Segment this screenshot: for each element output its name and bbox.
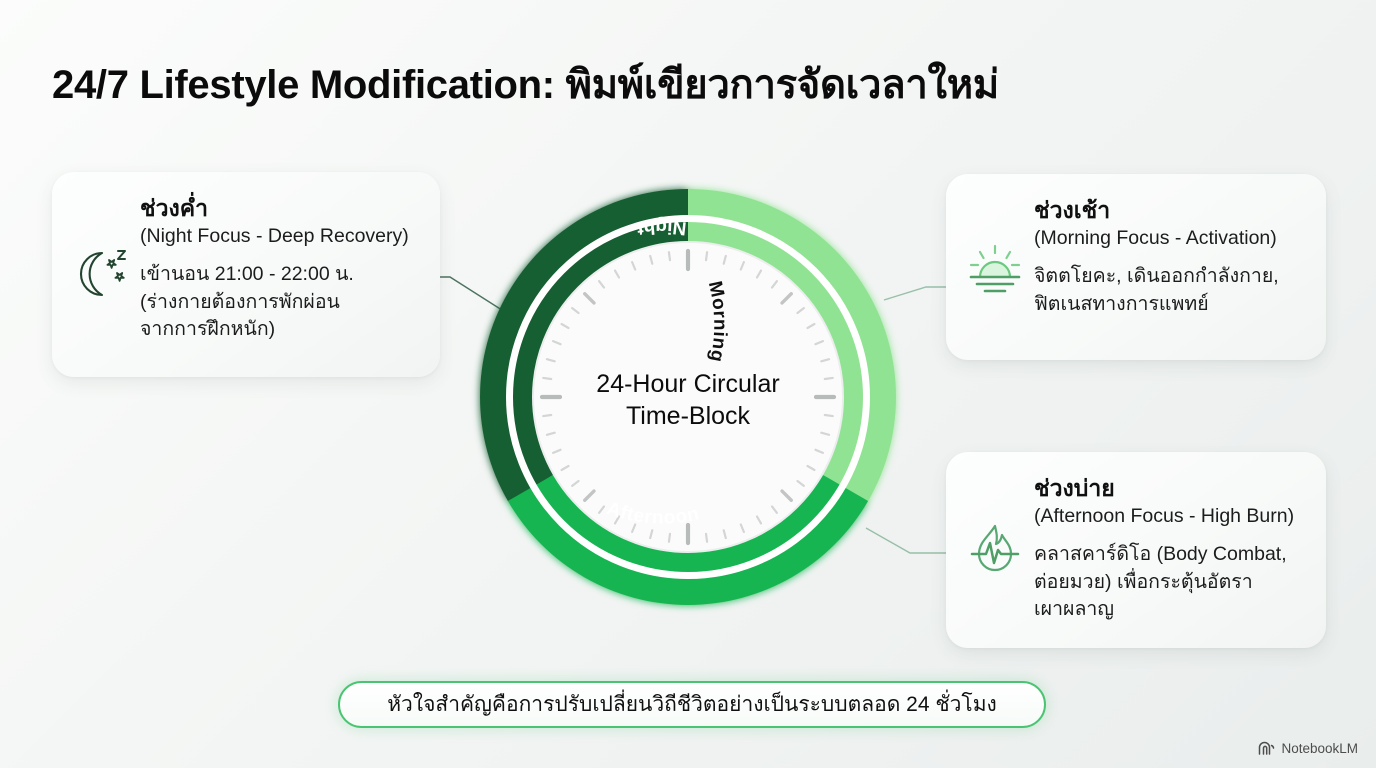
card-subtitle: (Morning Focus - Activation) [1034, 226, 1304, 251]
moon-zzz-icon [70, 242, 132, 304]
card-detail: คลาสคาร์ดิโอ (Body Combat, ต่อยมวย) เพื่… [1034, 541, 1304, 624]
card-heading: ช่วงเช้า [1034, 196, 1304, 225]
card-heading: ช่วงบ่าย [1034, 474, 1304, 503]
dial-tick [543, 378, 551, 379]
brand-notebooklm: NotebookLM [1258, 741, 1358, 756]
dial-tick [543, 415, 551, 416]
page-title: 24/7 Lifestyle Modification: พิมพ์เขียวก… [52, 52, 999, 116]
footer-callout-text: หัวใจสำคัญคือการปรับเปลี่ยนวิถีชีวิตอย่า… [387, 688, 997, 721]
card-morning[interactable]: ช่วงเช้า (Morning Focus - Activation) จิ… [946, 174, 1326, 360]
card-heading: ช่วงค่ำ [140, 194, 418, 223]
notebooklm-logo-icon [1258, 741, 1275, 756]
dial-tick [706, 252, 707, 260]
dial-tick [669, 534, 670, 542]
card-night[interactable]: ช่วงค่ำ (Night Focus - Deep Recovery) เข… [52, 172, 440, 377]
card-detail: จิตตโยคะ, เดินออกกำลังกาย, ฟิตเนสทางการแ… [1034, 263, 1304, 318]
brand-label: NotebookLM [1281, 741, 1358, 756]
card-subtitle: (Night Focus - Deep Recovery) [140, 224, 418, 249]
card-afternoon[interactable]: ช่วงบ่าย (Afternoon Focus - High Burn) ค… [946, 452, 1326, 648]
arc-label-night: Night [635, 216, 688, 239]
flame-pulse-icon [964, 520, 1026, 582]
circular-time-block-chart: Morning Afternoon Night 24-Hour Circular… [463, 172, 913, 622]
card-detail: เข้านอน 21:00 - 22:00 น. (ร่างกายต้องการ… [140, 261, 418, 344]
card-subtitle: (Afternoon Focus - High Burn) [1034, 504, 1304, 529]
dial-tick [706, 534, 707, 542]
footer-callout[interactable]: หัวใจสำคัญคือการปรับเปลี่ยนวิถีชีวิตอย่า… [338, 681, 1046, 728]
sunrise-icon [964, 238, 1026, 300]
dial-tick [825, 378, 833, 379]
dial-tick [825, 415, 833, 416]
dial-tick [669, 252, 670, 260]
